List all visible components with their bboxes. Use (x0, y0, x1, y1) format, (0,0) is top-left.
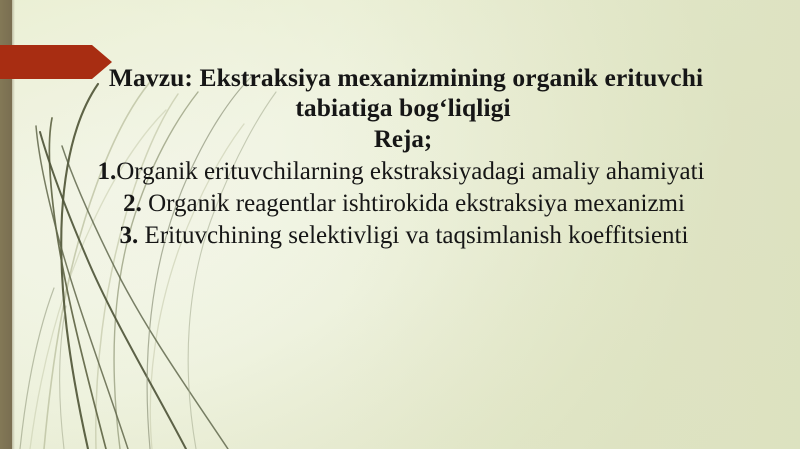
agenda-item-3-number: 3. (120, 222, 139, 249)
agenda-item-3-text: Erituvchining selektivligi va taqsimlani… (138, 222, 688, 249)
section-heading: Reja; (58, 126, 748, 154)
agenda-item-1-number: 1. (98, 158, 117, 185)
agenda-item-2-text: Organik reagentlar ishtirokida ekstraksi… (142, 190, 685, 217)
agenda-item-2-number: 2. (123, 190, 142, 217)
agenda-item-3: 3. Erituvchining selektivligi va taqsiml… (60, 222, 748, 250)
slide-text-block: Mavzu: Ekstraksiya mexanizmining organik… (58, 64, 748, 251)
slide-canvas: Mavzu: Ekstraksiya mexanizmining organik… (0, 0, 800, 449)
agenda-item-1: 1.Organik erituvchilarning ekstraksiyada… (54, 158, 748, 186)
agenda-item-2: 2. Organik reagentlar ishtirokida ekstra… (60, 190, 748, 218)
page-title-line-1: Mavzu: Ekstraksiya mexanizmining organik… (64, 64, 748, 93)
agenda-item-1-text: Organik erituvchilarning ekstraksiyadagi… (116, 158, 704, 185)
page-title-line-2: tabiatiga bog‘liqligi (58, 94, 748, 123)
